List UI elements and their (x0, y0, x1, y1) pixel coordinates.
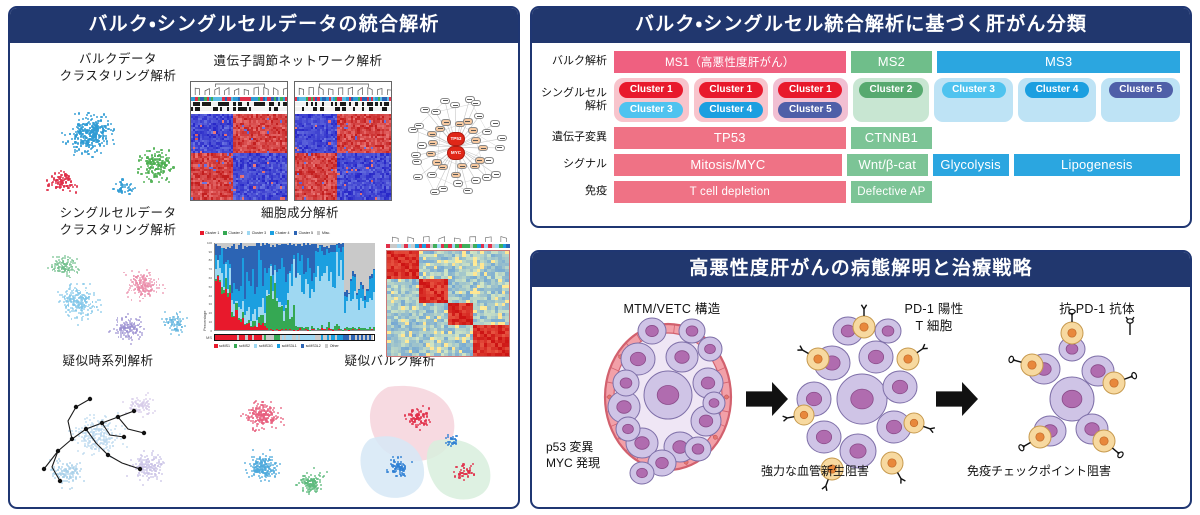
network-node (430, 189, 440, 195)
cluster-chip-cluster-4[interactable]: Cluster 4 (699, 102, 763, 118)
plot-bulk-clustering-umap (24, 85, 204, 205)
caption-immune-checkpoint: 免疫チェックポイント阻害 (924, 463, 1154, 479)
network-node (495, 145, 505, 151)
classification-cluster-group: Cluster 2. (853, 78, 930, 122)
legend-item: scMS2 (234, 344, 250, 348)
plot-grn-heatmap-2 (294, 81, 392, 201)
cluster-chip-cluster-5[interactable]: Cluster 5 (1109, 82, 1173, 98)
network-node (431, 109, 441, 115)
network-node (417, 142, 427, 148)
classification-row-label: バルク解析 (540, 51, 614, 73)
network-node (470, 163, 480, 169)
network-node (482, 129, 492, 135)
classification-row-cells: MS1（高悪性度肝がん）MS2MS3 (614, 51, 1180, 73)
classification-row: バルク解析MS1（高悪性度肝がん）MS2MS3 (540, 51, 1180, 73)
network-node (490, 120, 500, 126)
composition-ytick: 0 (200, 329, 212, 333)
classification-row: 遺伝子変異TP53CTNNB1 (540, 127, 1180, 149)
network-node (411, 152, 421, 158)
caption-p53-myc: p53 変異 MYC 発現 (546, 439, 656, 471)
network-node (432, 159, 442, 165)
label-grn: 遺伝子調節ネットワーク解析 (188, 53, 408, 70)
plot-grn-heatmap-1 (190, 81, 288, 201)
plot-singlecell-umap (24, 239, 204, 359)
legend-item: scMS1 (214, 344, 230, 348)
network-node (453, 180, 463, 186)
label-bulk-clustering: バルクデータ クラスタリング解析 (28, 51, 208, 85)
network-node (463, 188, 473, 194)
network-node (474, 113, 484, 119)
network-node (420, 107, 430, 113)
network-hub-node-tp53: TP53 (447, 132, 465, 146)
composition-ytick: 80 (200, 258, 212, 262)
classification-row: シングルセル 解析Cluster 1Cluster 3Cluster 1Clus… (540, 78, 1180, 122)
network-node (482, 174, 492, 180)
classification-cell-mitosis-myc: Mitosis/MYC (614, 154, 842, 176)
composition-bars (214, 243, 375, 331)
classification-cell-empty (937, 127, 1180, 149)
label-sc-clustering: シングルセルデータ クラスタリング解析 (28, 205, 208, 239)
network-node (451, 172, 461, 178)
figure-root: バルク・シングルセルデータの統合解析 バルクデータ クラスタリング解析 遺伝子調… (0, 0, 1200, 515)
composition-ytick: 10 (200, 320, 212, 324)
panel-classification-body: バルク解析MS1（高悪性度肝がん）MS2MS3シングルセル 解析Cluster … (532, 43, 1190, 209)
network-node (471, 177, 481, 183)
legend-item: Other (325, 344, 339, 348)
classification-row-label: シングルセル 解析 (540, 78, 614, 122)
legend-item: Cluster 2 (223, 231, 242, 235)
network-node (427, 172, 437, 178)
plot-pseudotime (24, 377, 199, 505)
classification-row-cells: Cluster 1Cluster 3Cluster 1Cluster 4Clus… (614, 78, 1180, 122)
classification-cell-lipogenesis: Lipogenesis (1014, 154, 1180, 176)
network-node (413, 174, 423, 180)
composition-ytick: 50 (200, 285, 212, 289)
composition-ms-strip (214, 334, 375, 341)
cluster-chip-cluster-1[interactable]: Cluster 1 (778, 82, 842, 98)
classification-cluster-group: Cluster 1Cluster 5 (773, 78, 848, 122)
classification-cell-empty (937, 181, 1180, 203)
classification-cell-ms2: MS2 (851, 51, 933, 73)
classification-cell-ms1-: MS1（高悪性度肝がん） (614, 51, 846, 73)
classification-cell-ctnnb1: CTNNB1 (851, 127, 933, 149)
classification-row-cells: T cell depletionDefective AP (614, 181, 1180, 203)
cluster-chip-cluster-3[interactable]: Cluster 3 (619, 102, 683, 118)
composition-ytick: 40 (200, 294, 212, 298)
network-node (428, 140, 438, 146)
classification-cluster-group: Cluster 3. (934, 78, 1013, 122)
classification-cell-wnt-cat: Wnt/β-cat (847, 154, 928, 176)
panel-classification-title: バルク・シングルセル統合解析に基づく肝がん分類 (532, 8, 1190, 43)
plot-correlation-heatmap (386, 233, 510, 357)
composition-ytick: 60 (200, 276, 212, 280)
panel-left-body: バルクデータ クラスタリング解析 遺伝子調節ネットワーク解析 シングルセルデータ… (10, 43, 518, 509)
legend-item: Cluster 4 (270, 231, 289, 235)
composition-top-legend: Cluster 1Cluster 2Cluster 3Cluster 4Clus… (200, 231, 379, 235)
network-node (441, 119, 451, 125)
classification-row-cells: Mitosis/MYCWnt/β-catGlycolysisLipogenesi… (614, 154, 1180, 176)
classification-cell-ms3: MS3 (937, 51, 1180, 73)
legend-item: Cluster 5 (294, 231, 313, 235)
cluster-chip-cluster-3[interactable]: Cluster 3 (942, 82, 1006, 98)
classification-cell-tp53: TP53 (614, 127, 846, 149)
network-node (478, 145, 488, 151)
network-node (491, 171, 501, 177)
classification-cell-defective-ap: Defective AP (851, 181, 933, 203)
network-node (435, 126, 445, 132)
network-node (426, 151, 436, 157)
classification-table: バルク解析MS1（高悪性度肝がん）MS2MS3シングルセル 解析Cluster … (540, 51, 1180, 203)
network-node (463, 118, 473, 124)
classification-row: シグナルMitosis/MYCWnt/β-catGlycolysisLipoge… (540, 154, 1180, 176)
classification-row-label: 遺伝子変異 (540, 127, 614, 149)
composition-row-label: MS (198, 335, 212, 340)
classification-cluster-group: Cluster 1Cluster 3 (614, 78, 689, 122)
network-node (450, 102, 460, 108)
network-node (471, 100, 481, 106)
network-node (412, 159, 422, 165)
network-node (414, 123, 424, 129)
plot-pseudobulk (354, 377, 510, 505)
panel-classification: バルク・シングルセル統合解析に基づく肝がん分類 バルク解析MS1（高悪性度肝がん… (530, 6, 1192, 228)
cluster-chip-cluster-5[interactable]: Cluster 5 (778, 102, 842, 118)
composition-ytick: 70 (200, 267, 212, 271)
network-node (484, 157, 494, 163)
legend-item: Cluster 3 (247, 231, 266, 235)
panel-mechanism-body: MTM/VETC 構造 PD-1 陽性 T 細胞 抗 PD-1 抗体 p53 変… (532, 287, 1190, 509)
composition-ytick: 90 (200, 250, 212, 254)
legend-item: scMS3L1 (277, 344, 297, 348)
plot-pseudotime-clusters (206, 377, 346, 505)
classification-row-cells: TP53CTNNB1 (614, 127, 1180, 149)
panel-mechanism: 高悪性度肝がんの病態解明と治療戦略 MTM/VETC 構造 PD-1 陽性 T … (530, 250, 1192, 509)
label-cell-composition: 細胞成分解析 (225, 205, 375, 222)
legend-item: Cluster 1 (200, 231, 219, 235)
composition-bottom-legend: scMS1scMS2scMS3GscMS3L1scMS3L2Other (214, 344, 375, 348)
classification-cluster-group: Cluster 1Cluster 4 (694, 78, 769, 122)
network-node (440, 98, 450, 104)
network-node (471, 137, 481, 143)
cluster-chip-cluster-1[interactable]: Cluster 1 (619, 82, 683, 98)
classification-row-label: シグナル (540, 154, 614, 176)
legend-item: scMS3G (254, 344, 273, 348)
classification-cluster-group: Cluster 5. (1101, 78, 1180, 122)
classification-row-label: 免疫 (540, 181, 614, 203)
network-node (468, 127, 478, 133)
panel-mechanism-title: 高悪性度肝がんの病態解明と治療戦略 (532, 252, 1190, 287)
plot-cell-composition: Cluster 1Cluster 2Cluster 3Cluster 4Clus… (196, 231, 381, 367)
caption-antiangiogenesis: 強力な血管新生阻害 (720, 463, 910, 479)
panel-integrated-analysis: バルク・シングルセルデータの統合解析 バルクデータ クラスタリング解析 遺伝子調… (8, 6, 520, 509)
network-hub-node-myc: MYC (447, 146, 465, 160)
classification-row: 免疫T cell depletionDefective AP (540, 181, 1180, 203)
classification-cell-t-cell-depletion: T cell depletion (614, 181, 846, 203)
cluster-chip-cluster-4[interactable]: Cluster 4 (1025, 82, 1089, 98)
composition-ytick: 30 (200, 302, 212, 306)
classification-cluster-group: Cluster 4. (1018, 78, 1097, 122)
composition-ytick: 100 (200, 241, 212, 245)
legend-item: Misc. (317, 231, 330, 235)
legend-item: scMS3L2 (301, 344, 321, 348)
classification-cell-glycolysis: Glycolysis (933, 154, 1009, 176)
cluster-chip-cluster-2[interactable]: Cluster 2 (859, 82, 923, 98)
cluster-chip-cluster-1[interactable]: Cluster 1 (699, 82, 763, 98)
plot-grn-network: TP53MYC (398, 91, 514, 203)
panel-left-title: バルク・シングルセルデータの統合解析 (10, 8, 518, 43)
composition-ytick: 20 (200, 311, 212, 315)
